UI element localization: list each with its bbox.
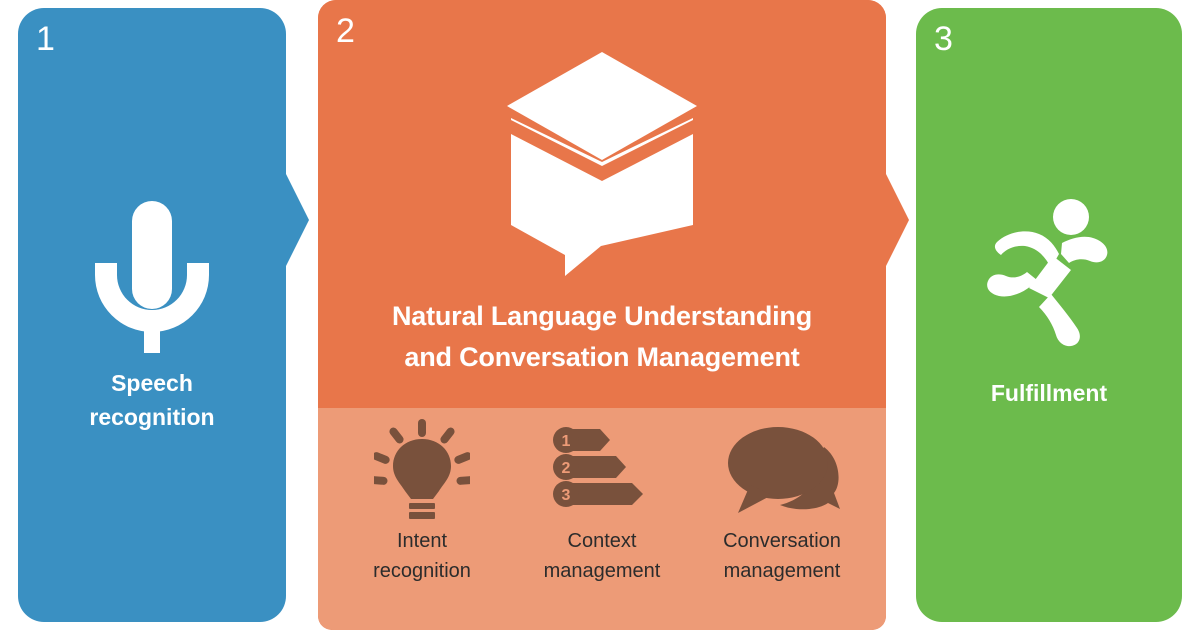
chat-cube-icon — [497, 50, 707, 276]
arrow-number-2: 2 — [562, 460, 571, 477]
step-label-nlu: Natural Language Understanding and Conve… — [348, 296, 856, 378]
lightbulb-icon-container — [374, 418, 470, 520]
lightbulb-icon — [374, 419, 470, 519]
step-label-line2: and Conversation Management — [348, 337, 856, 378]
sub-label-line1: Intent — [373, 526, 471, 556]
chat-cube-icon-container — [318, 50, 886, 276]
step-label-line1: Natural Language Understanding — [348, 296, 856, 337]
sub-label-line2: management — [544, 556, 661, 586]
arrow-step1-to-step2 — [285, 172, 309, 268]
step-card-speech-recognition[interactable]: 1 Speech recognition — [18, 8, 286, 622]
sub-label-line2: management — [723, 556, 841, 586]
step-label-line2: recognition — [18, 400, 286, 434]
arrow-step2-to-step3 — [885, 172, 909, 268]
sub-feature-intent-recognition[interactable]: Intent recognition — [336, 418, 508, 586]
arrow-number-3: 3 — [562, 487, 571, 504]
step-number-1: 1 — [36, 22, 55, 56]
step-label-speech-recognition: Speech recognition — [18, 366, 286, 434]
step-number-3: 3 — [934, 22, 953, 56]
speech-bubbles-icon — [720, 421, 844, 517]
sub-label-line2: recognition — [373, 556, 471, 586]
step-label-line1: Speech — [18, 366, 286, 400]
sub-label-line1: Conversation — [723, 526, 841, 556]
numbered-arrows-icon: 1 2 3 — [550, 421, 654, 517]
numbered-arrows-icon-container: 1 2 3 — [550, 418, 654, 520]
step-label-fulfillment: Fulfillment — [916, 376, 1182, 410]
sub-feature-label-conversation-management: Conversation management — [723, 526, 841, 586]
sub-feature-conversation-management[interactable]: Conversation management — [696, 418, 868, 586]
sub-label-line1: Context — [544, 526, 661, 556]
speech-bubbles-icon-container — [720, 418, 844, 520]
microphone-icon — [87, 201, 217, 353]
step-card-nlu[interactable]: 2 Natural Language Understanding and Con… — [318, 0, 886, 630]
sub-feature-label-context-management: Context management — [544, 526, 661, 586]
arrow-number-1: 1 — [562, 433, 571, 450]
step-card-fulfillment[interactable]: 3 — [916, 8, 1182, 622]
running-person-icon-container — [916, 198, 1182, 348]
diagram-canvas: 1 Speech recognition 2 — [0, 0, 1200, 630]
sub-feature-context-management[interactable]: 1 2 3 Context management — [516, 418, 688, 586]
step-number-2: 2 — [336, 14, 355, 48]
nlu-sub-features-row: Intent recognition — [318, 418, 886, 618]
sub-feature-label-intent-recognition: Intent recognition — [373, 526, 471, 586]
running-person-icon — [979, 198, 1119, 348]
microphone-icon-container — [18, 201, 286, 353]
step-label-line1: Fulfillment — [916, 376, 1182, 410]
